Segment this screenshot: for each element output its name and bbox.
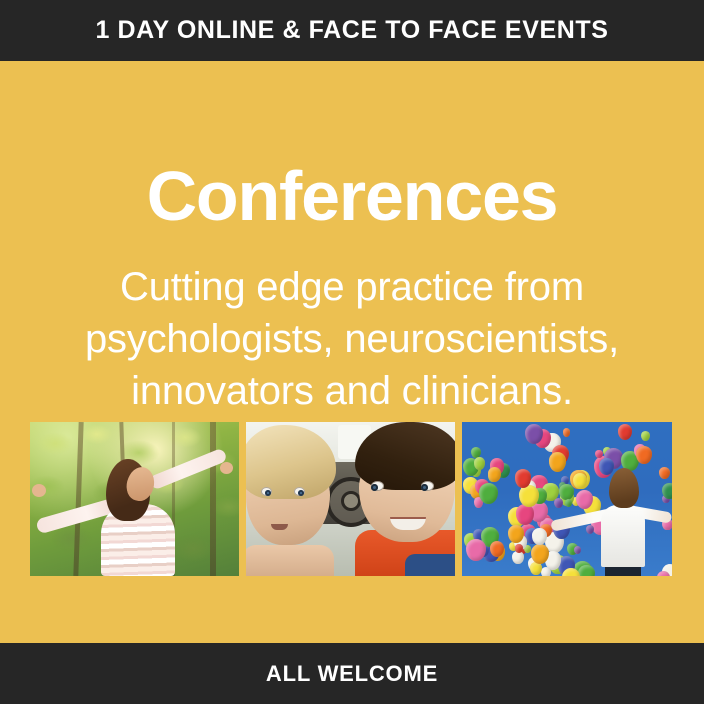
balloon	[515, 469, 532, 488]
woman-left-hand	[32, 484, 46, 497]
balloon	[515, 544, 523, 552]
left-boy-pupil	[265, 490, 271, 496]
subtitle-line-3: innovators and clinicians.	[0, 365, 704, 417]
tree-trunk	[210, 422, 216, 576]
balloon	[531, 544, 549, 564]
bottom-banner-text: ALL WELCOME	[266, 663, 438, 685]
balloon	[578, 565, 595, 576]
balloon	[512, 551, 524, 564]
right-boy-pupil	[371, 484, 378, 491]
balloon	[662, 483, 672, 499]
left-boy-mouth	[271, 524, 288, 530]
right-boy-pupil	[421, 484, 428, 491]
balloon	[466, 539, 486, 561]
right-boy-arm	[405, 554, 455, 576]
bottom-banner: ALL WELCOME	[0, 643, 704, 704]
balloon	[574, 546, 581, 554]
balloon	[530, 562, 542, 575]
balloon	[519, 485, 539, 507]
photo-strip	[30, 422, 672, 576]
left-boy-hands	[246, 545, 334, 576]
balloon	[532, 528, 547, 545]
page-title: Conferences	[0, 161, 704, 231]
balloon	[549, 452, 567, 472]
conference-promo-poster: 1 DAY ONLINE & FACE TO FACE EVENTS Confe…	[0, 0, 704, 704]
poster-body: Conferences Cutting edge practice from p…	[0, 61, 704, 643]
photo-woman-in-autumn-forest	[30, 422, 239, 576]
top-banner: 1 DAY ONLINE & FACE TO FACE EVENTS	[0, 0, 704, 61]
left-boy-pupil	[298, 490, 304, 496]
subtitle-line-2: psychologists, neuroscientists,	[0, 313, 704, 365]
wheel-inner-ring	[341, 491, 361, 511]
woman-right-hand	[220, 462, 233, 474]
photo-two-smiling-boys	[246, 422, 455, 576]
balloon	[599, 458, 614, 475]
top-banner-text: 1 DAY ONLINE & FACE TO FACE EVENTS	[95, 18, 608, 43]
subtitle-line-1: Cutting edge practice from	[0, 261, 704, 313]
woman-white-top	[601, 505, 645, 567]
subtitle: Cutting edge practice from psychologists…	[0, 261, 704, 417]
balloon	[559, 484, 573, 500]
balloon	[636, 446, 652, 464]
woman-hair	[609, 468, 639, 508]
photo-woman-with-balloons	[462, 422, 672, 576]
